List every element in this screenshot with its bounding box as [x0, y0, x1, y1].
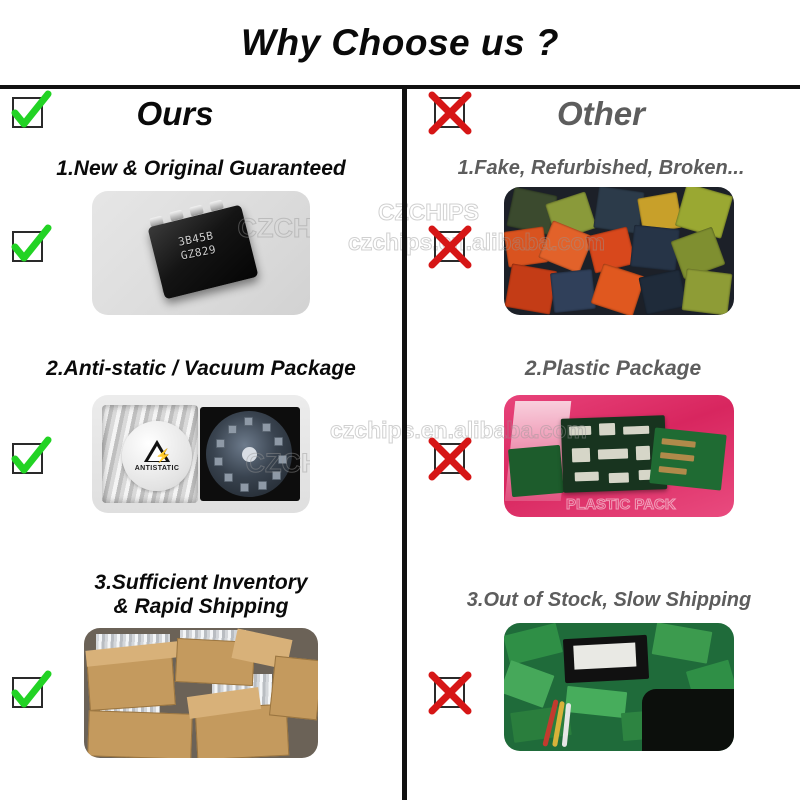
other-row-3: 3.Out of Stock, Slow Shipping [402, 567, 800, 800]
column-ours-header: Ours [0, 89, 402, 151]
pcb-component [598, 448, 628, 459]
watermark-pack: PLASTIC PACK [566, 496, 676, 513]
pcb-component [572, 447, 590, 462]
check-mark-icon-row-3 [8, 673, 48, 713]
ours-row-2-title: 2.Anti-static / Vacuum Package [0, 355, 402, 381]
pcb-component [658, 466, 686, 475]
scrap-board [565, 686, 627, 718]
check-mark-icon-row-1 [8, 227, 48, 267]
ours-row-2: 2.Anti-static / Vacuum Package ⚡ [0, 355, 402, 567]
antistatic-text: ANTISTATIC [135, 465, 180, 472]
check-glyph [8, 227, 48, 267]
cross-mark-icon-row-3 [430, 673, 470, 713]
pcb-component [623, 425, 649, 434]
antistatic-label-disc: ⚡ ANTISTATIC [122, 421, 192, 491]
scrap-board [652, 623, 713, 664]
reel-cell [244, 417, 253, 426]
check-mark-icon-header [8, 93, 48, 133]
cross-mark-icon-row-1 [430, 227, 470, 267]
cross-mark-icon-row-2 [430, 439, 470, 479]
dark-component [642, 689, 734, 751]
pcb-component [609, 472, 629, 483]
cross-glyph [430, 673, 470, 713]
cross-glyph [430, 227, 470, 267]
other-row-1-photo [504, 187, 734, 315]
other-row-3-title: 3.Out of Stock, Slow Shipping [402, 567, 800, 611]
reel-cell [272, 471, 281, 480]
column-other: Other 1.Fake, Refurbished, Broken... [402, 89, 800, 800]
antistatic-foil-bag: ⚡ ANTISTATIC [102, 405, 198, 503]
pcb-component [575, 471, 599, 481]
reel-cell [274, 437, 283, 446]
column-other-header: Other [402, 89, 800, 151]
pcb-component [569, 425, 591, 435]
other-row-1-title: 1.Fake, Refurbished, Broken... [402, 151, 800, 179]
chip-marking: 3B45B GZ829 [177, 229, 217, 263]
chip-package: 3B45B GZ829 [147, 204, 258, 299]
column-divider [402, 87, 407, 800]
pcb-component [599, 422, 615, 435]
ours-row-3-title-line-1: 3.Sufficient Inventory [6, 571, 396, 595]
reel-cell [214, 457, 223, 466]
reel-cell [240, 483, 249, 492]
page-title: Why Choose us ? [241, 22, 559, 64]
carton-box [269, 656, 318, 721]
carton-box [87, 710, 193, 758]
cross-glyph [430, 93, 470, 133]
ours-row-3-photo [84, 628, 318, 758]
other-row-2-photo: PLASTIC PACK [504, 395, 734, 517]
check-mark-icon-row-2 [8, 439, 48, 479]
column-ours: Ours 1.New & Original Guaranteed [0, 89, 402, 800]
pcb-component [661, 438, 695, 448]
column-ours-label: Ours [0, 95, 402, 133]
scrap-chip [505, 264, 558, 315]
ours-row-1: 1.New & Original Guaranteed [0, 151, 402, 355]
other-row-2: 2.Plastic Package [402, 355, 800, 567]
reel-cell [258, 481, 267, 490]
header-divider [0, 85, 800, 89]
scrap-board [504, 661, 554, 709]
cross-mark-icon-header [430, 93, 470, 133]
ours-row-2-photo: ⚡ ANTISTATIC [92, 395, 310, 513]
ours-row-1-photo: 3B45B GZ829 CZCHIPS [92, 191, 310, 315]
other-row-1: 1.Fake, Refurbished, Broken... [402, 151, 800, 355]
other-row-2-title: 2.Plastic Package [402, 355, 800, 381]
reel-hub [242, 447, 257, 462]
other-row-3-photo [504, 623, 734, 751]
scrap-chip [682, 269, 733, 316]
scrap-board [504, 623, 563, 665]
reel-cell [216, 439, 225, 448]
pcb-secondary [649, 427, 726, 490]
reel-cell [278, 455, 287, 464]
pcb-component [660, 452, 694, 462]
ours-row-1-title: 1.New & Original Guaranteed [0, 151, 402, 181]
reel-cell [262, 423, 271, 432]
scrap-chip [550, 269, 596, 313]
reel-disc [206, 411, 292, 497]
esd-warning-icon: ⚡ [144, 440, 170, 462]
reel-cell [228, 425, 237, 434]
cross-glyph [430, 439, 470, 479]
why-choose-us-comparison: Why Choose us ? Ours 1.New & Original Gu… [0, 0, 800, 800]
check-glyph [8, 93, 48, 133]
component-reel [200, 407, 300, 501]
header: Why Choose us ? [0, 0, 800, 85]
reel-cell [224, 473, 233, 482]
comparison-columns: Ours 1.New & Original Guaranteed [0, 89, 800, 800]
check-glyph [8, 673, 48, 713]
ours-row-3-title-line-2: & Rapid Shipping [6, 595, 396, 619]
ours-row-3: 3.Sufficient Inventory & Rapid Shipping [0, 567, 402, 800]
pcb-component [636, 445, 650, 459]
black-module [563, 635, 649, 683]
ours-row-3-title: 3.Sufficient Inventory & Rapid Shipping [0, 567, 402, 618]
lightning-bolt-icon: ⚡ [155, 449, 171, 462]
check-glyph [8, 439, 48, 479]
pcb-small [508, 444, 564, 496]
scrap-chip [639, 269, 688, 315]
module-label [573, 643, 636, 670]
